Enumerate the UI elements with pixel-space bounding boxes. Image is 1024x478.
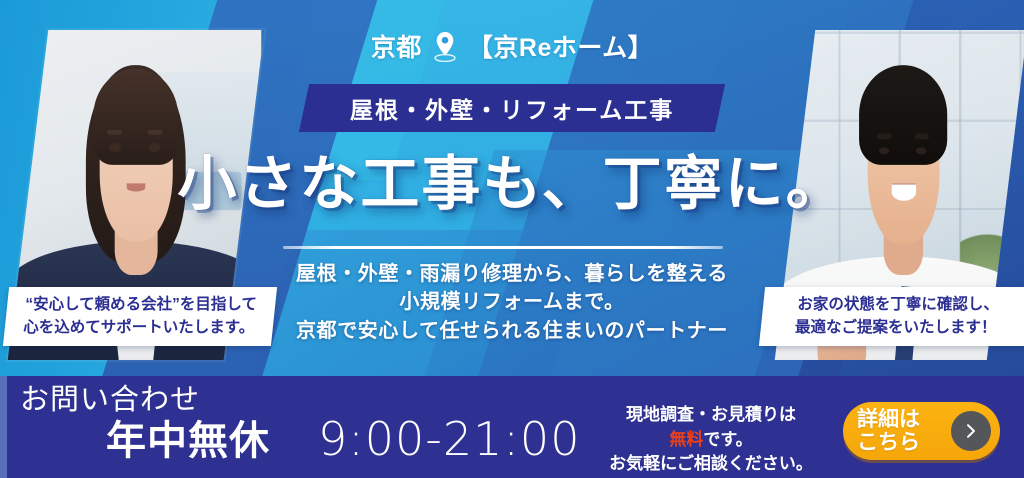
cta-line-2: こちら [857, 432, 920, 455]
caption-right-line-2: 最適なご提案をいたします！ [771, 317, 1021, 340]
chevron-right-icon[interactable] [951, 411, 991, 451]
caption-right: お家の状態を丁寧に確認し、 最適なご提案をいたします！ [759, 287, 1024, 346]
estimate-line-1: 現地調査・お見積りは [596, 403, 826, 428]
service-badge-wrap: 屋根・外壁・リフォーム工事 [0, 84, 1024, 132]
contact-bar: お問い合わせ 年中無休 9:00-21:00 現地調査・お見積りは 無料です。 … [0, 376, 1024, 478]
contact-info: お問い合わせ 年中無休 [20, 386, 270, 461]
estimate-info: 現地調査・お見積りは 無料です。 お気軽にご相談ください。 [596, 403, 826, 477]
details-cta-button[interactable]: 詳細は こちら [843, 402, 1000, 460]
divider-line [283, 246, 723, 249]
advertisement-banner: 京都 【京Reホーム】 屋根・外壁・リフォーム工事 小さな工事も、丁寧に。 屋根… [0, 0, 1024, 478]
estimate-line-2: 無料です。 [596, 428, 826, 453]
contact-label: お問い合わせ [20, 386, 270, 415]
bar-left-accent [0, 376, 7, 478]
header-kicker: 京都 【京Reホーム】 [0, 28, 1024, 64]
caption-left: “安心して頼める会社”を目指して 心を込めてサポートいたします。 [3, 287, 277, 346]
headline: 小さな工事も、丁寧に。 [0, 136, 1024, 221]
free-highlight: 無料 [669, 430, 703, 449]
location-label: 京都 [371, 28, 422, 64]
open-everyday-label: 年中無休 [106, 421, 270, 461]
map-pin-icon [432, 30, 458, 62]
company-name: 【京Reホーム】 [468, 28, 653, 64]
service-badge: 屋根・外壁・リフォーム工事 [299, 84, 726, 132]
free-suffix: です。 [703, 430, 752, 449]
caption-right-line-1: お家の状態を丁寧に確認し、 [773, 294, 1023, 317]
cta-line-1: 詳細は [857, 409, 920, 432]
cta-text: 詳細は こちら [857, 409, 920, 454]
business-hours: 9:00-21:00 [318, 412, 580, 466]
description-line-1: 屋根・外壁・雨漏り修理から、暮らしを整える [0, 260, 1024, 288]
caption-left-line-2: 心を込めてサポートいたします。 [15, 317, 263, 340]
service-badge-label: 屋根・外壁・リフォーム工事 [350, 91, 674, 125]
estimate-line-3: お気軽にご相談ください。 [596, 452, 826, 477]
caption-left-line-1: “安心して頼める会社”を目指して [17, 294, 265, 317]
